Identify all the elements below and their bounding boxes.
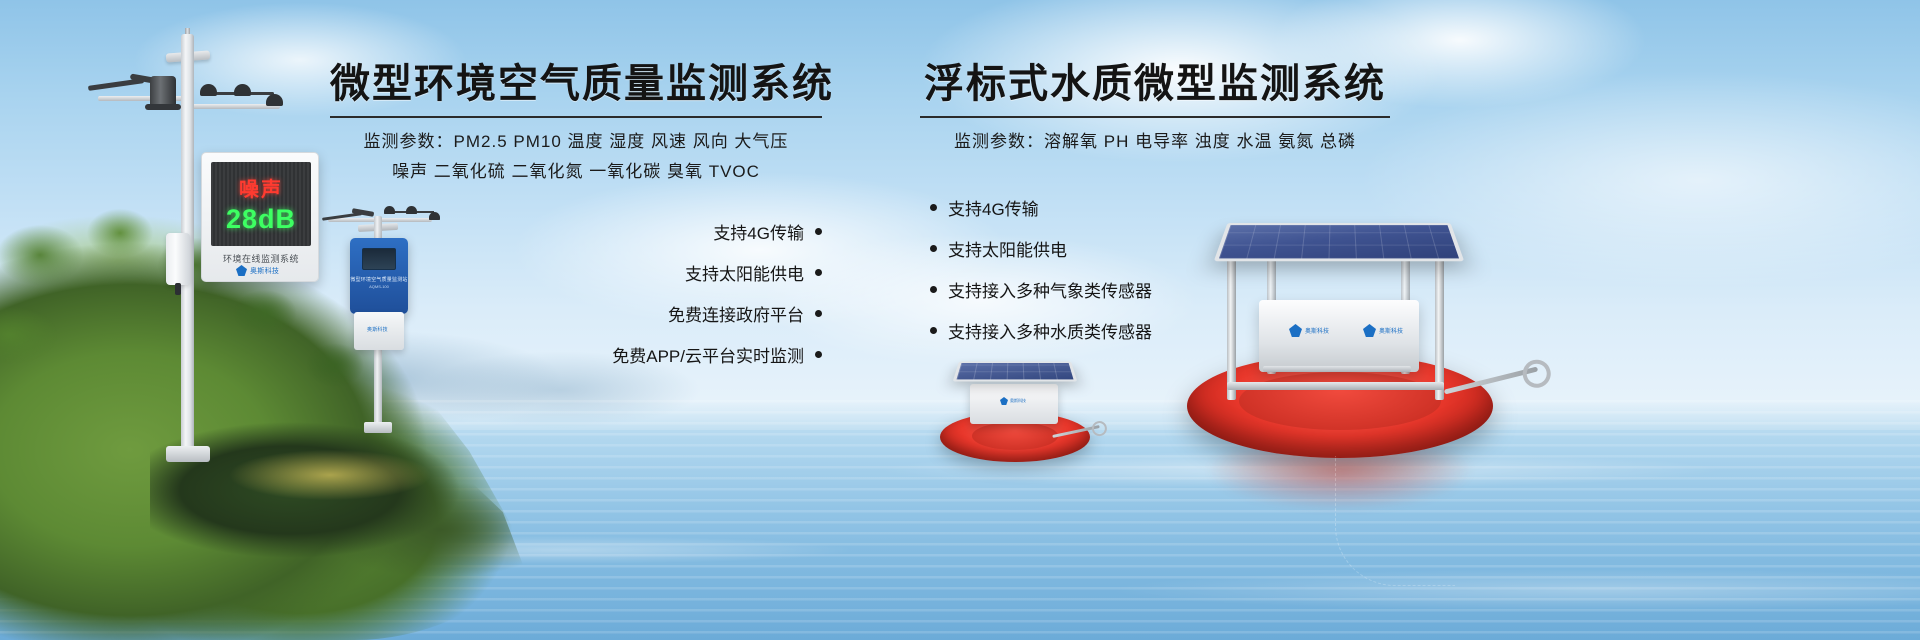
bullet-dot-icon: [930, 245, 937, 252]
bullet-dot-icon: [930, 327, 937, 334]
led-display-label: 噪声: [239, 173, 283, 202]
brand-name: 奥斯科技: [1010, 398, 1026, 404]
water-feature-label: 支持4G传输: [948, 195, 1039, 220]
water-parameters-line-1: 监测参数：溶解氧 PH 电导率 浊度 水温 氨氮 总磷: [920, 127, 1390, 157]
bullet-dot-icon: [815, 228, 822, 235]
buoy-small-solar-panel-icon: [953, 362, 1078, 382]
bullet-dot-icon: [815, 269, 822, 276]
water-buoy-small: 奥斯科技: [940, 340, 1090, 470]
air-feature-label: 支持4G传输: [713, 219, 804, 244]
station-sensor-box: [166, 233, 190, 285]
led-display-value: 28dB: [226, 204, 296, 235]
water-feature-item: 支持接入多种水质类传感器: [930, 318, 1152, 343]
sensor-cylinder: [150, 76, 176, 106]
anemometer-icon: [200, 84, 286, 114]
water-system-text-panel: 浮标式水质微型监测系统 监测参数：溶解氧 PH 电导率 浊度 水温 氨氮 总磷 …: [920, 62, 1390, 343]
water-feature-label: 支持接入多种气象类传感器: [948, 277, 1152, 302]
air-monitoring-station: 噪声 28dB 环境在线监测系统 奥斯科技: [78, 28, 328, 468]
water-feature-list: 支持4G传输 支持太阳能供电 支持接入多种气象类传感器 支持接入多种水质类传感器: [920, 179, 1390, 343]
brand-logo-icon: [236, 265, 247, 276]
station-base: [166, 446, 210, 462]
water-feature-item: 支持4G传输: [930, 195, 1039, 220]
air-feature-list: 支持4G传输 支持太阳能供电 免费连接政府平台 免费APP/云平台实时监测: [330, 203, 822, 367]
brand-logo-icon: [1000, 397, 1008, 405]
air-feature-item: 免费连接政府平台: [668, 301, 822, 326]
station-display-enclosure: 噪声 28dB 环境在线监测系统 奥斯科技: [201, 152, 319, 282]
air-system-parameters: 监测参数：PM2.5 PM10 温度 湿度 风速 风向 大气压 噪声 二氧化硫 …: [330, 127, 822, 187]
buoy-small-brand: 奥斯科技: [1000, 397, 1026, 405]
water-feature-label: 支持太阳能供电: [948, 236, 1067, 261]
air-system-text-panel: 微型环境空气质量监测系统 监测参数：PM2.5 PM10 温度 湿度 风速 风向…: [330, 62, 822, 367]
air-parameters-line-2: 噪声 二氧化硫 二氧化氮 一氧化碳 臭氧 TVOC: [330, 157, 822, 187]
title-divider: [920, 116, 1390, 118]
brand-name: 奥斯科技: [250, 266, 279, 276]
air-feature-item: 支持太阳能供电: [685, 260, 822, 285]
buoy-small-float-inner: [972, 422, 1058, 450]
water-system-title: 浮标式水质微型监测系统: [920, 62, 1390, 106]
air-feature-label: 免费连接政府平台: [668, 301, 804, 326]
station-caption: 环境在线监测系统: [202, 252, 320, 265]
bullet-dot-icon: [815, 310, 822, 317]
air-parameters-line-1: 监测参数：PM2.5 PM10 温度 湿度 风速 风向 大气压: [330, 127, 822, 157]
water-feature-label: 支持接入多种水质类传感器: [948, 318, 1152, 343]
station2-base: [364, 422, 392, 433]
bullet-dot-icon: [930, 286, 937, 293]
air-feature-label: 支持太阳能供电: [685, 260, 804, 285]
buoy-frame-crossbar: [1227, 382, 1444, 390]
air-system-title: 微型环境空气质量监测系统: [330, 62, 822, 106]
bullet-dot-icon: [930, 204, 937, 211]
buoy-frame-post: [1435, 250, 1444, 400]
buoy-small-body: 奥斯科技: [970, 384, 1058, 424]
buoy-frame-crossbar: [1263, 366, 1411, 372]
title-divider: [330, 116, 822, 118]
water-system-parameters: 监测参数：溶解氧 PH 电导率 浊度 水温 氨氮 总磷: [920, 127, 1390, 157]
air-feature-label: 免费APP/云平台实时监测: [612, 342, 804, 367]
water-feature-item: 支持太阳能供电: [930, 236, 1067, 261]
air-feature-item: 支持4G传输: [713, 219, 822, 244]
air-feature-item: 免费APP/云平台实时监测: [612, 342, 822, 367]
buoy-large-sensor-cable: [1335, 456, 1455, 586]
bullet-dot-icon: [815, 351, 822, 358]
product-banner: 噪声 28dB 环境在线监测系统 奥斯科技 微型环境空气质量监测站 AQMS-1…: [0, 0, 1920, 640]
station-brand: 奥斯科技: [236, 265, 279, 276]
led-display: 噪声 28dB: [211, 162, 311, 246]
water-feature-item: 支持接入多种气象类传感器: [930, 277, 1152, 302]
